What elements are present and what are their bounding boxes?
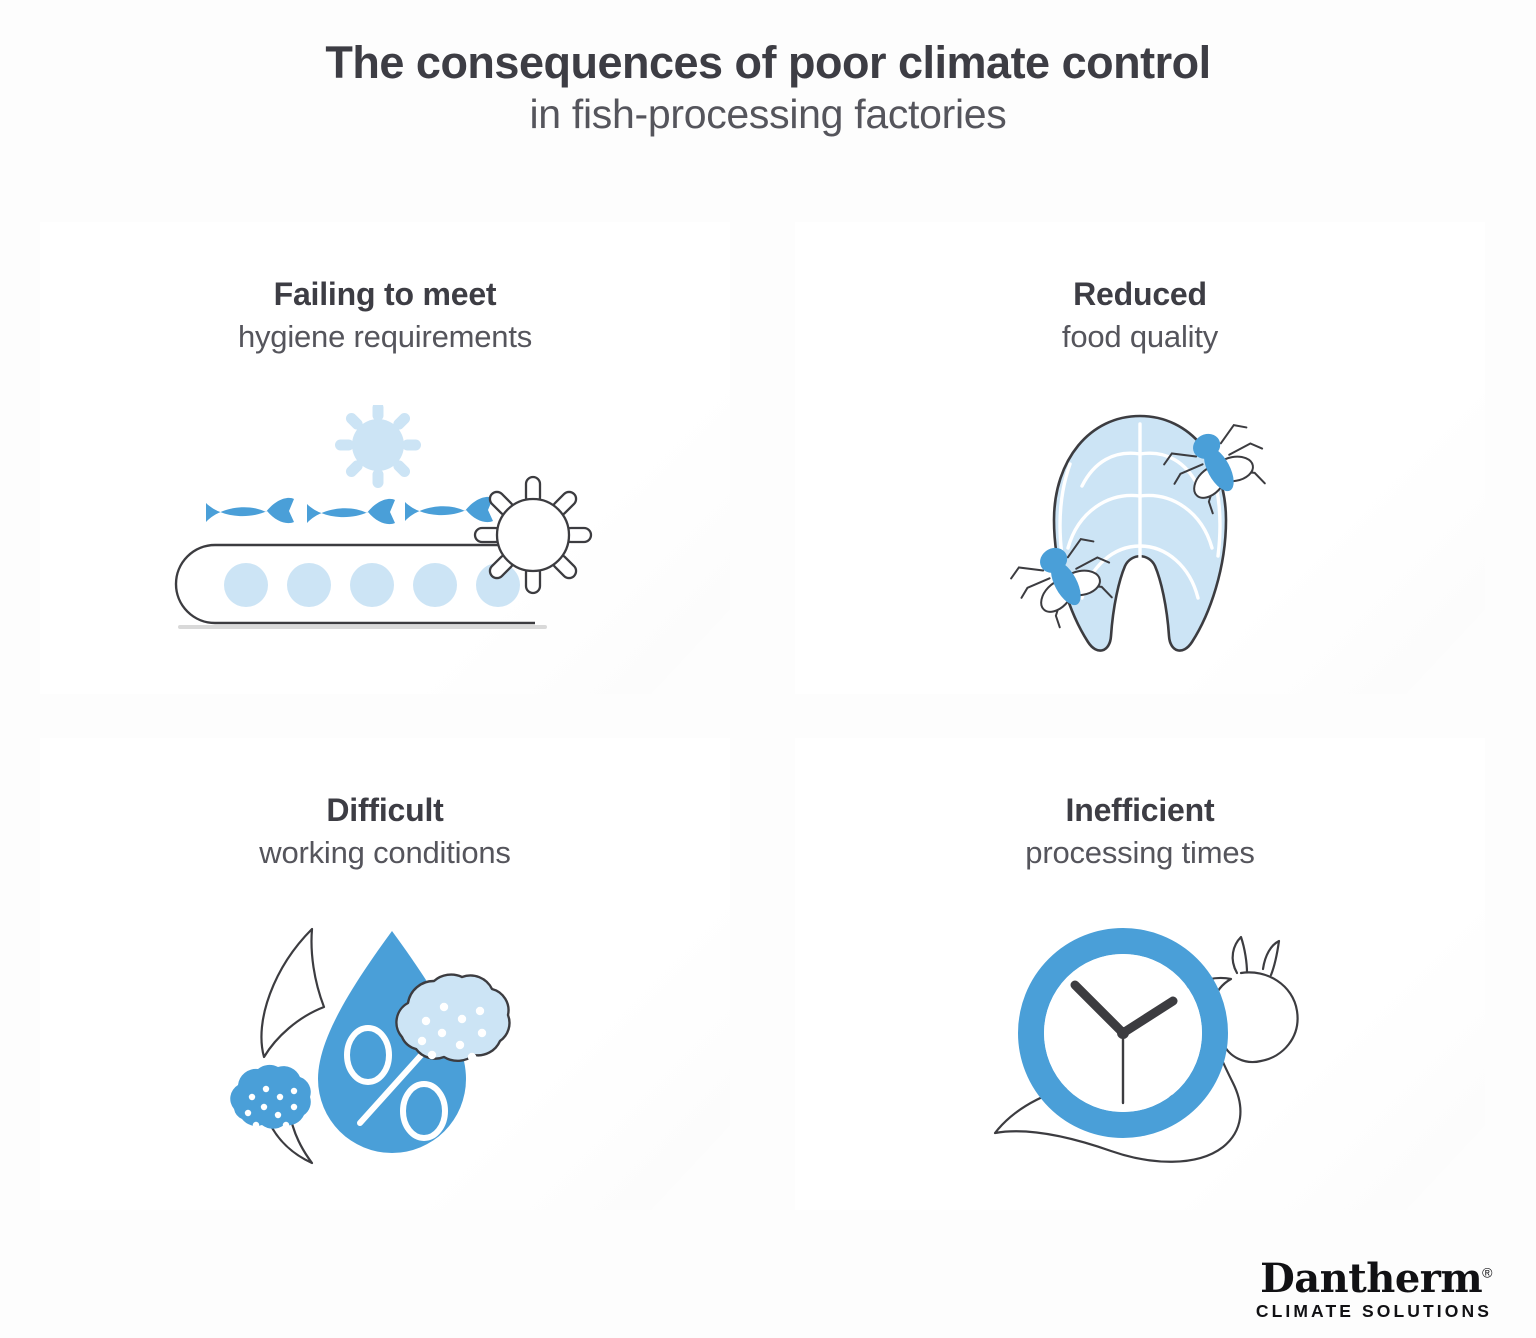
page-title-line-2: in fish-processing factories — [0, 90, 1536, 139]
page-title: The consequences of poor climate control… — [0, 38, 1536, 140]
card-working-conditions-title: Difficult — [40, 790, 730, 830]
card-processing-times-subtitle: processing times — [795, 833, 1485, 873]
card-working-conditions-heading: Difficult working conditions — [40, 738, 730, 873]
consequences-card-grid: Failing to meet hygiene requirements — [40, 222, 1495, 1217]
card-working-conditions[interactable]: Difficult working conditions — [40, 738, 730, 1210]
card-food-quality-subtitle: food quality — [795, 317, 1485, 357]
card-processing-times[interactable]: Inefficient processing times — [795, 738, 1485, 1210]
card-processing-times-title: Inefficient — [795, 790, 1485, 830]
registered-trademark-icon: ® — [1482, 1264, 1492, 1280]
logo-tagline: CLIMATE SOLUTIONS — [1256, 1303, 1492, 1321]
card-hygiene-subtitle: hygiene requirements — [40, 317, 730, 357]
snail-clock-icon — [795, 906, 1485, 1186]
card-processing-times-heading: Inefficient processing times — [795, 738, 1485, 873]
card-working-conditions-subtitle: working conditions — [40, 833, 730, 873]
conveyor-belt-fish-germs-icon — [40, 390, 730, 670]
logo-word-text: Dantherm — [1260, 1255, 1482, 1302]
card-hygiene-title: Failing to meet — [40, 274, 730, 314]
dantherm-logo: Dantherm® CLIMATE SOLUTIONS — [1256, 1259, 1492, 1321]
salmon-steak-with-flies-icon — [795, 390, 1485, 670]
card-food-quality-heading: Reduced food quality — [795, 222, 1485, 357]
card-food-quality[interactable]: Reduced food quality — [795, 222, 1485, 694]
humidity-droplet-percent-icon — [40, 906, 730, 1186]
card-food-quality-title: Reduced — [795, 274, 1485, 314]
card-hygiene-heading: Failing to meet hygiene requirements — [40, 222, 730, 357]
page-title-line-1: The consequences of poor climate control — [0, 38, 1536, 88]
card-hygiene[interactable]: Failing to meet hygiene requirements — [40, 222, 730, 694]
logo-wordmark: Dantherm® — [1256, 1259, 1492, 1299]
